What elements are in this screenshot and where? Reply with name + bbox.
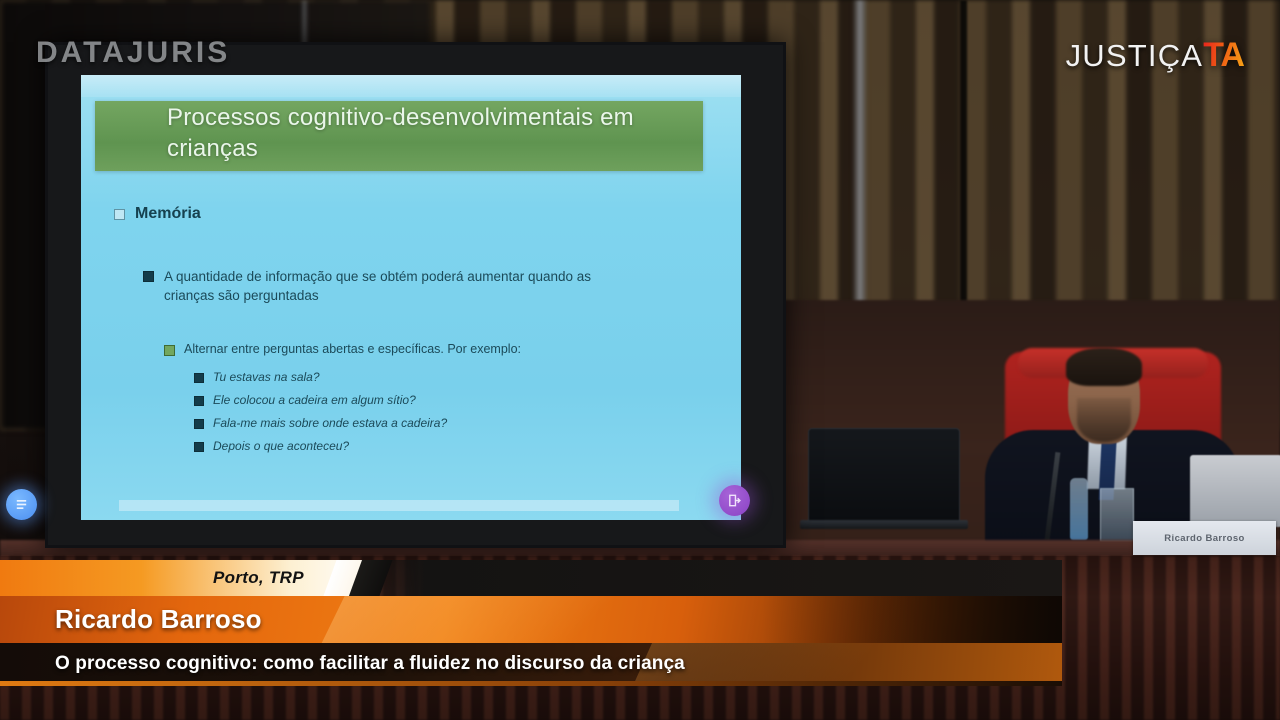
projection-screen: Processos cognitivo-desenvolvimentais em… xyxy=(45,42,786,548)
subtitle-bottom-accent xyxy=(0,681,1062,686)
bullet-square-icon xyxy=(194,373,204,383)
slide-example-text: Depois o que aconteceu? xyxy=(213,438,349,455)
slide-example-item: Ele colocou a cadeira em algum sítio? xyxy=(194,392,741,409)
menu-lines-icon xyxy=(14,497,29,512)
location-label: Porto, TRP xyxy=(213,568,304,588)
slide-bottom-strip xyxy=(119,500,679,511)
slide-body: Memória A quantidade de informação que s… xyxy=(81,179,741,455)
slide-bullet-level2: A quantidade de informação que se obtém … xyxy=(143,267,613,305)
water-glass xyxy=(1100,488,1134,542)
laptop-secondary xyxy=(808,428,960,524)
logo-accent-text: TA xyxy=(1203,36,1244,75)
bullet-square-icon xyxy=(114,209,125,220)
speaker-beard xyxy=(1077,398,1131,442)
slide-title-band: Processos cognitivo-desenvolvimentais em… xyxy=(95,101,703,171)
slide-bullet-level3-text: Alternar entre perguntas abertas e espec… xyxy=(184,341,521,358)
slide-title: Processos cognitivo-desenvolvimentais em… xyxy=(167,102,697,164)
slide-example-text: Fala-me mais sobre onde estava a cadeira… xyxy=(213,415,447,432)
exit-arrow-icon xyxy=(727,493,742,508)
channel-watermark: DATAJURIS xyxy=(36,36,230,70)
speaker-hair xyxy=(1066,348,1142,386)
menu-button[interactable] xyxy=(6,489,37,520)
slide-surface: Processos cognitivo-desenvolvimentais em… xyxy=(81,75,741,520)
laptop-secondary-base xyxy=(800,520,968,529)
desk-nameplate-text: Ricardo Barroso xyxy=(1164,533,1244,544)
talk-title: O processo cognitivo: como facilitar a f… xyxy=(55,653,685,675)
slide-example-text: Ele colocou a cadeira em algum sítio? xyxy=(213,392,416,409)
broadcast-logo: JUSTIÇA TA xyxy=(1066,36,1244,75)
bullet-square-icon xyxy=(194,419,204,429)
lower-third-banner: Porto, TRP Ricardo Barroso O processo co… xyxy=(0,560,1062,686)
slide-example-item: Depois o que aconteceu? xyxy=(194,438,741,455)
lower-third-tab-bg xyxy=(0,560,372,596)
slide-bullet-level1: Memória xyxy=(114,205,741,223)
speaker-name: Ricardo Barroso xyxy=(55,604,262,635)
name-row-shadow xyxy=(762,596,1062,643)
bullet-square-icon xyxy=(194,396,204,406)
slide-bullet-level1-text: Memória xyxy=(135,205,201,223)
water-bottle xyxy=(1070,478,1088,540)
bullet-square-icon xyxy=(164,345,175,356)
bullet-square-icon xyxy=(194,442,204,452)
video-frame:  Ricardo Barroso Processos cognitivo-de… xyxy=(0,0,1280,720)
slide-example-item: Tu estavas na sala? xyxy=(194,369,741,386)
lower-third-subtitle-row: O processo cognitivo: como facilitar a f… xyxy=(0,643,1062,686)
slide-bullet-level2-text: A quantidade de informação que se obtém … xyxy=(164,267,613,305)
laptop-macbook:  xyxy=(1190,455,1280,527)
logo-primary-text: JUSTIÇA xyxy=(1066,38,1204,74)
bullet-square-icon xyxy=(143,271,154,282)
slide-example-text: Tu estavas na sala? xyxy=(213,369,320,386)
desk-nameplate: Ricardo Barroso xyxy=(1133,521,1276,555)
lower-third-tab-row: Porto, TRP xyxy=(0,560,1062,596)
slide-example-item: Fala-me mais sobre onde estava a cadeira… xyxy=(194,415,741,432)
name-row-sheen xyxy=(306,596,775,643)
slide-bullet-level3: Alternar entre perguntas abertas e espec… xyxy=(164,341,741,358)
slide-top-strip xyxy=(81,75,741,97)
exit-button[interactable] xyxy=(719,485,750,516)
lower-third-name-row: Ricardo Barroso xyxy=(0,596,1062,643)
